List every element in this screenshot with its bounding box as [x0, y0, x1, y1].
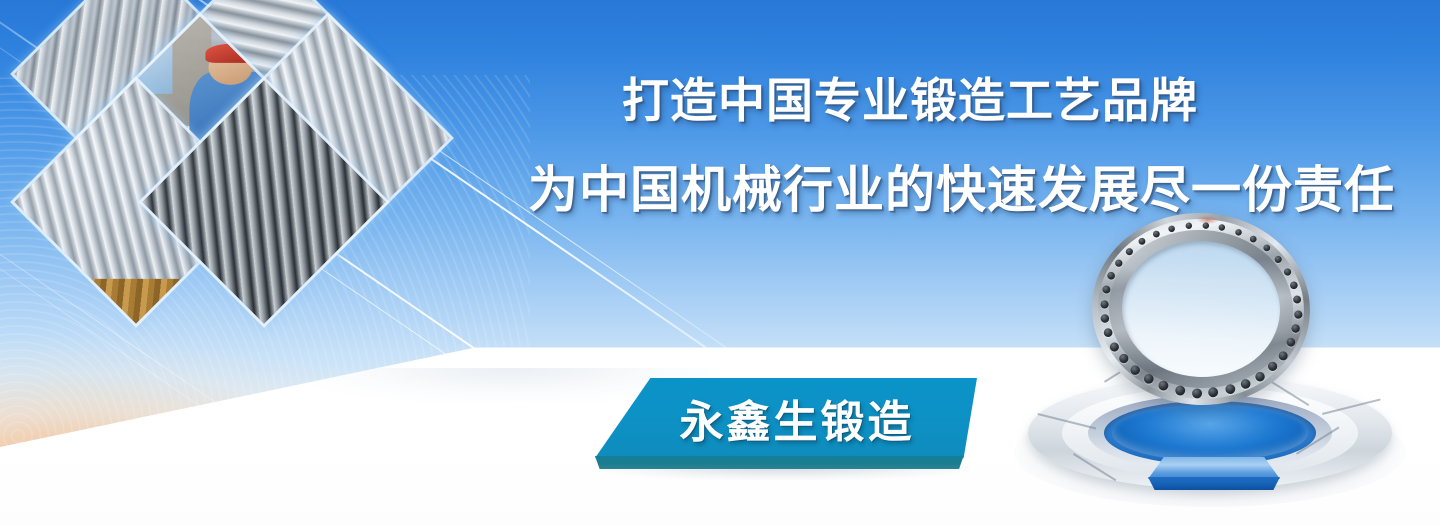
flange-bolt-hole	[1274, 255, 1281, 262]
flange-bolt-hole	[1283, 268, 1291, 276]
flange-bolt-hole	[1289, 281, 1297, 289]
flange-bolt-hole	[1294, 310, 1303, 319]
forged-flange-ring	[1087, 207, 1315, 410]
glass-step-top	[1148, 457, 1280, 479]
flange-bolt-hole	[1191, 388, 1201, 398]
headline-line-1: 打造中国专业锻造工艺品牌	[622, 62, 1198, 131]
flange-bolt-hole	[1153, 230, 1160, 237]
wood-base	[14, 279, 257, 324]
flange-bolt-hole	[1202, 222, 1209, 229]
flange-bolt-hole	[1255, 372, 1265, 382]
plaque-label: 永鑫生锻造	[595, 378, 977, 458]
diamond-photo-collage	[0, 0, 434, 390]
flange-bolt-hole	[1250, 235, 1257, 242]
flange-bolt-hole	[1126, 247, 1133, 254]
blue-glass-step	[1148, 457, 1280, 491]
promo-banner: 打造中国专业锻造工艺品牌 为中国机械行业的快速发展尽一份责任	[0, 0, 1440, 525]
brand-plaque[interactable]: 永鑫生锻造	[595, 378, 995, 478]
flange-bolt-hole	[1235, 228, 1242, 235]
flange-bolt-hole	[1100, 300, 1109, 309]
pedestal-core-glow	[1112, 405, 1308, 461]
glass-step-edge	[1148, 477, 1280, 490]
product-display	[1000, 205, 1420, 525]
flange-bolt-hole	[1185, 222, 1192, 229]
